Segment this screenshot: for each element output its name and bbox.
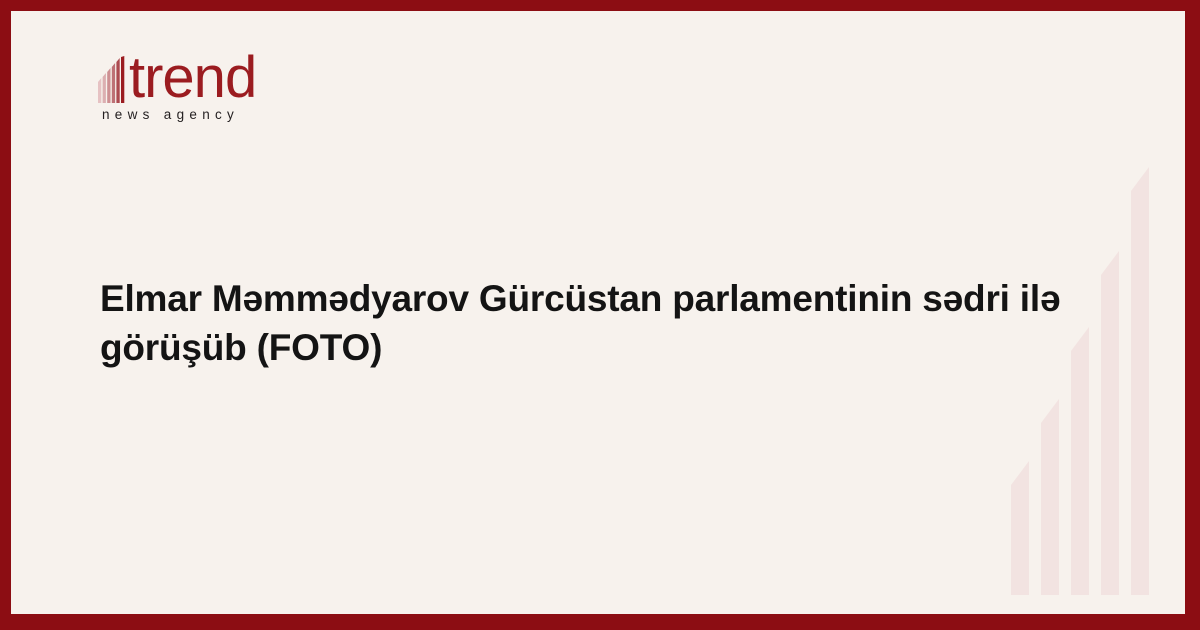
watermark-bar-4 [1101,251,1119,595]
watermark-bar-2 [1041,399,1059,595]
rising-bars-watermark [1003,155,1178,595]
logo-tagline: news agency [102,107,328,122]
logo-wordmark: trend [129,54,256,103]
watermark-bar-5 [1131,167,1149,595]
article-headline: Elmar Məmmədyarov Gürcüstan parlamentini… [100,275,1100,373]
trend-bars-mark-icon [98,56,128,103]
watermark-bar-1 [1011,461,1029,595]
trend-logo[interactable]: trend news agency [98,45,328,122]
article-share-card: trend news agency Elmar Məmmədyarov Gürc… [0,0,1200,630]
card-canvas: trend news agency Elmar Məmmədyarov Gürc… [11,11,1185,614]
logo-lockup: trend [98,45,328,103]
